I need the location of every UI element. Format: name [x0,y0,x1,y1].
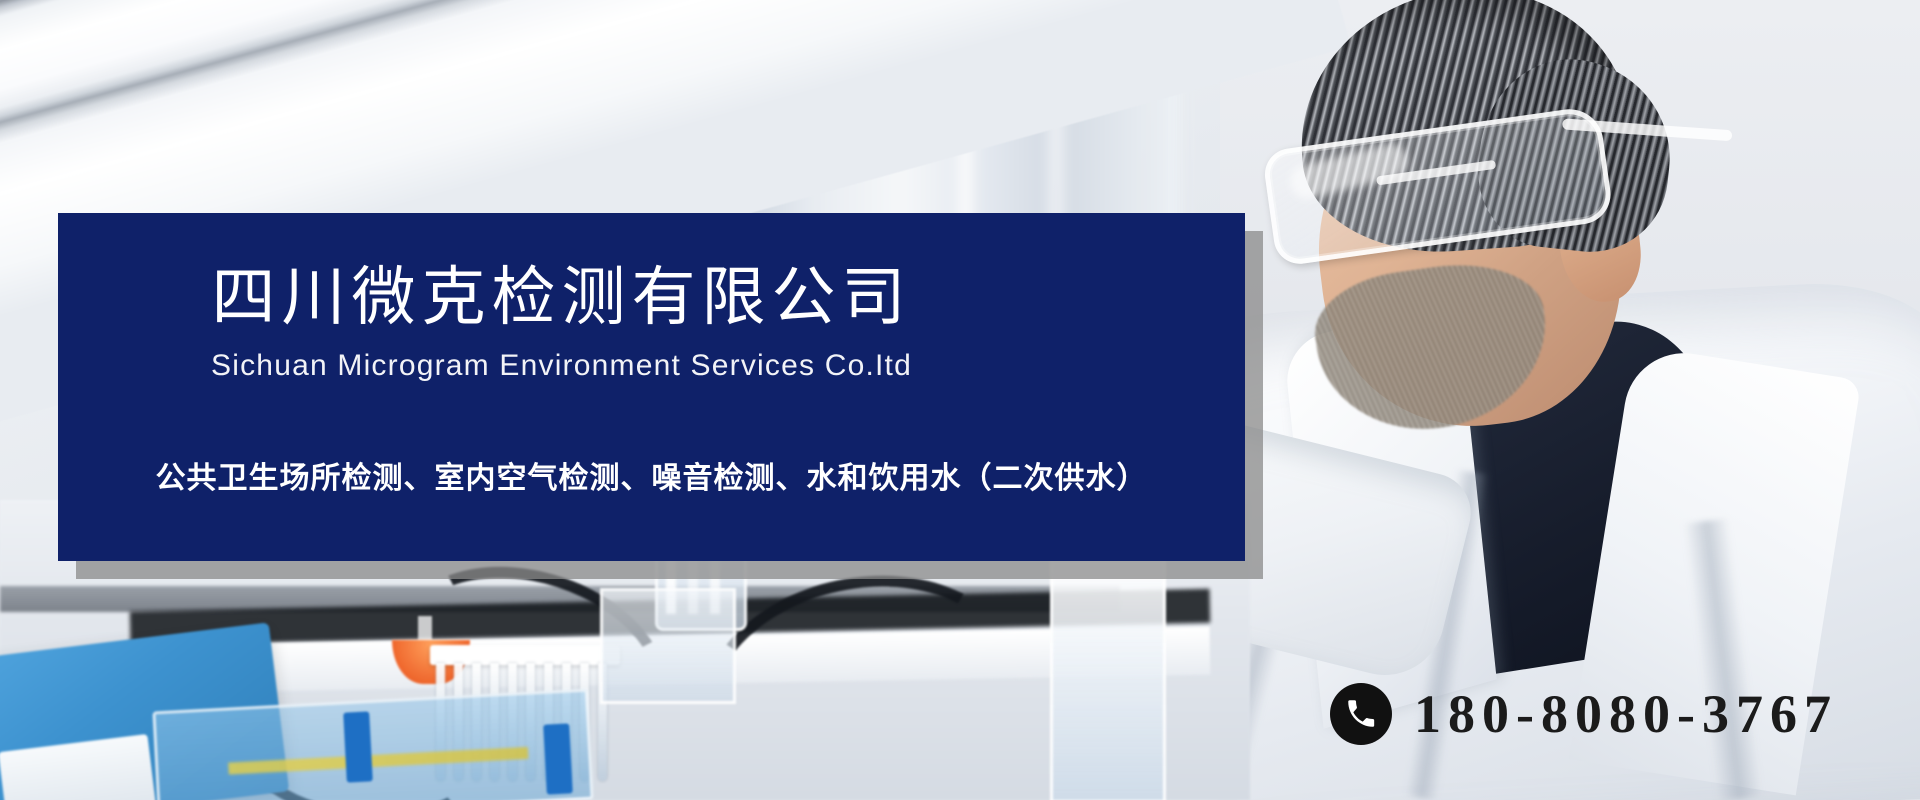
glass-container [600,588,736,704]
contact-phone[interactable]: 180-8080-3767 [1330,683,1838,745]
company-name-chinese: 四川微克检测有限公司 [58,265,1245,329]
rack-bar [430,645,620,665]
company-info-panel: 四川微克检测有限公司 Sichuan Microgram Environment… [58,213,1245,561]
glass-cylinder [1050,560,1166,800]
hero-banner: 四川微克检测有限公司 Sichuan Microgram Environment… [0,0,1920,800]
phone-number: 180-8080-3767 [1414,687,1838,741]
tray-clip [543,723,573,794]
phone-icon [1330,683,1392,745]
tray-clip [343,711,373,782]
services-list: 公共卫生场所检测、室内空气检测、噪音检测、水和饮用水（二次供水） [58,453,1245,497]
company-name-english: Sichuan Microgram Environment Services C… [58,351,1245,381]
